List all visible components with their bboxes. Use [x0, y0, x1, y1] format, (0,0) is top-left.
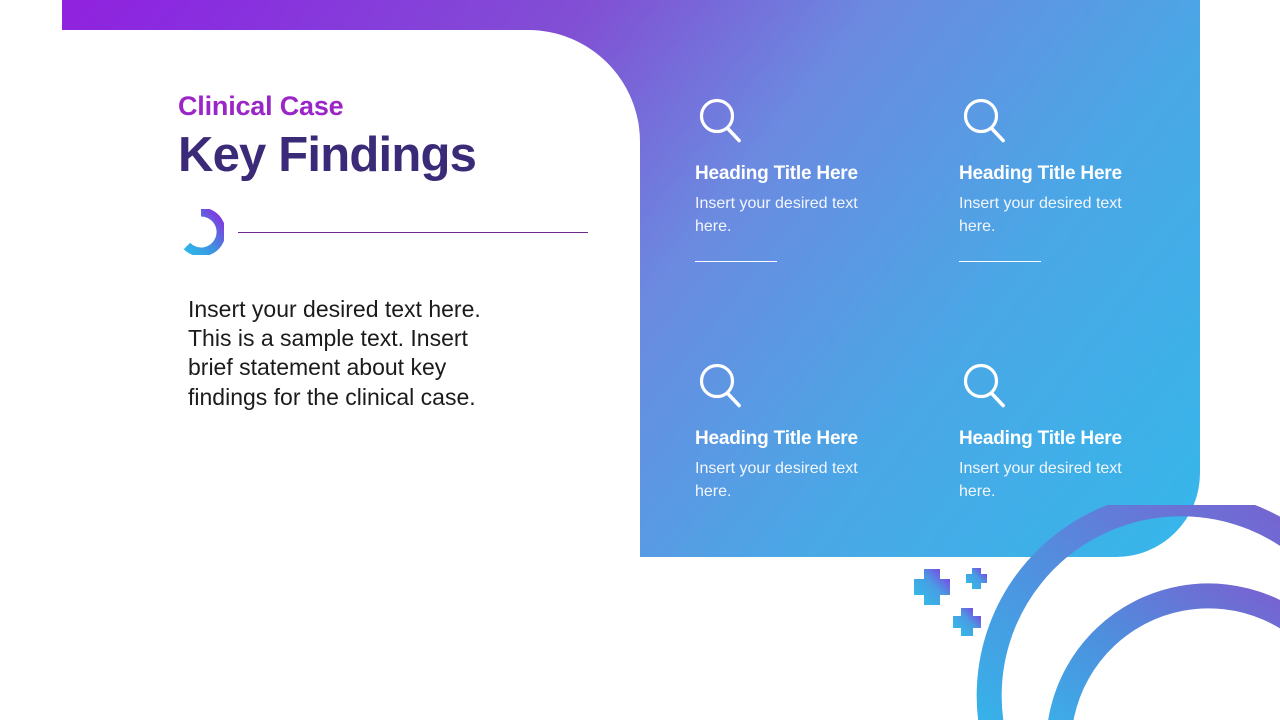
search-icon: [695, 360, 751, 416]
arc-rings-decoration: [975, 505, 1280, 720]
card-title: Heading Title Here: [695, 163, 895, 185]
card-title: Heading Title Here: [959, 163, 1159, 185]
page-title: Key Findings: [178, 128, 598, 183]
search-icon: [959, 95, 1015, 151]
body-paragraph: Insert your desired text here. This is a…: [188, 295, 518, 413]
cards-row-top: Heading Title Here Insert your desired t…: [695, 95, 1165, 238]
card-text: Insert your desired text here.: [959, 458, 1159, 503]
card-text: Insert your desired text here.: [959, 193, 1159, 238]
card-underline: [695, 261, 777, 263]
cards-row-spacer: [695, 238, 1165, 360]
card-title: Heading Title Here: [959, 428, 1159, 450]
title-divider: [238, 232, 588, 234]
card-text: Insert your desired text here.: [695, 193, 895, 238]
card-item-3[interactable]: Heading Title Here Insert your desired t…: [695, 360, 895, 503]
eyebrow-label: Clinical Case: [178, 92, 598, 122]
cards-row-bottom: Heading Title Here Insert your desired t…: [695, 360, 1165, 503]
card-item-1[interactable]: Heading Title Here Insert your desired t…: [695, 95, 895, 238]
card-item-4[interactable]: Heading Title Here Insert your desired t…: [959, 360, 1159, 503]
slide-canvas: Clinical Case Key Findings Insert your d…: [0, 0, 1280, 720]
card-text: Insert your desired text here.: [695, 458, 895, 503]
cards-grid: Heading Title Here Insert your desired t…: [695, 95, 1165, 504]
card-item-2[interactable]: Heading Title Here Insert your desired t…: [959, 95, 1159, 238]
card-title: Heading Title Here: [695, 428, 895, 450]
search-icon: [695, 95, 751, 151]
ring-logo-icon: [178, 209, 224, 255]
left-column: Clinical Case Key Findings Insert your d…: [178, 92, 598, 412]
card-underline: [959, 261, 1041, 263]
search-icon: [959, 360, 1015, 416]
title-decoration-row: [178, 207, 598, 255]
